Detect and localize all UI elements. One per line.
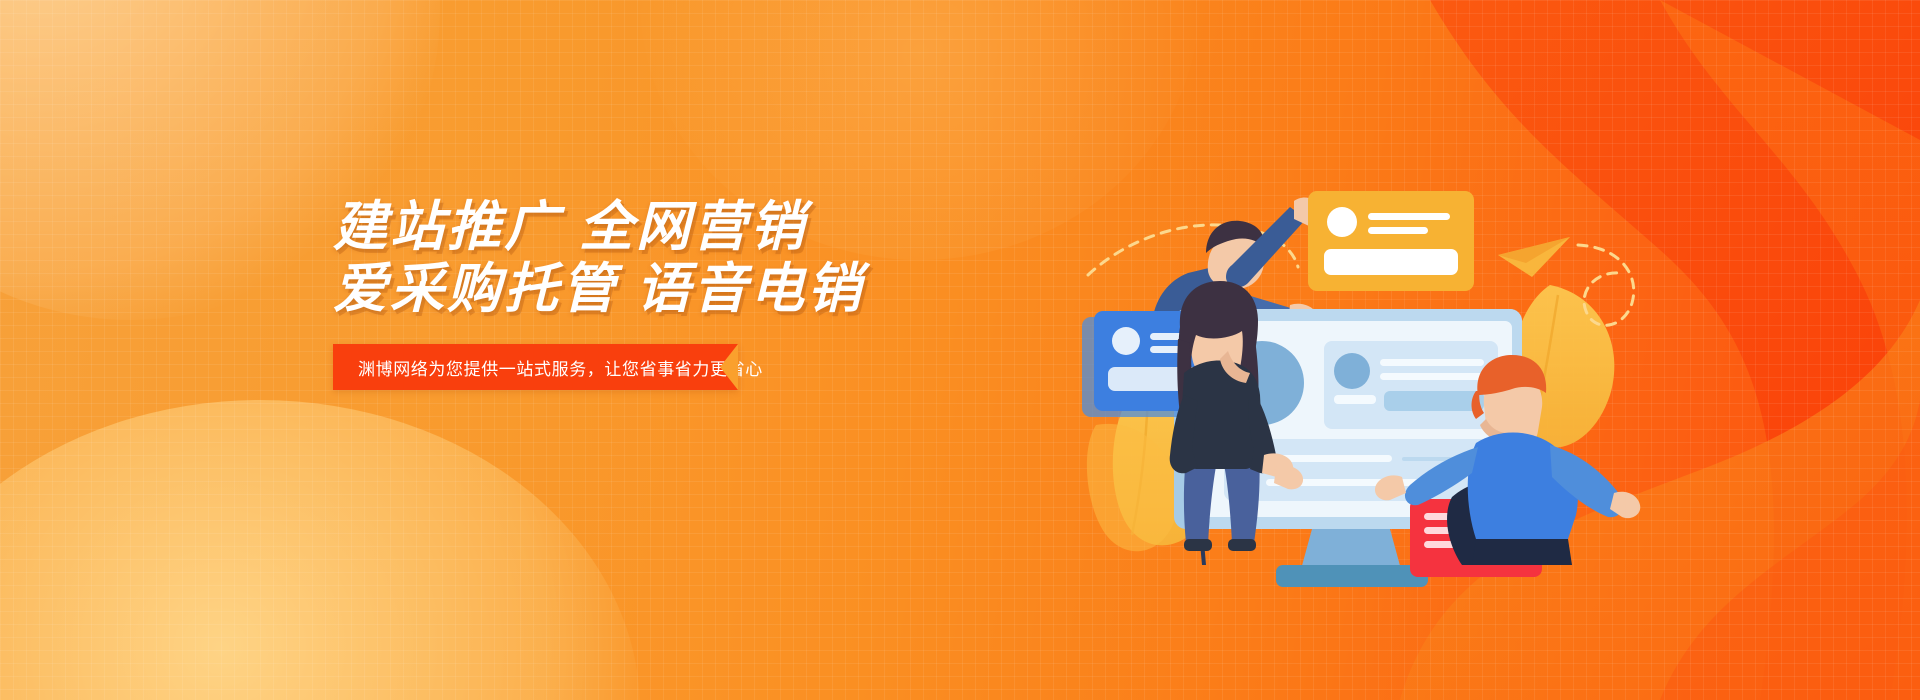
yellow-profile-card	[1308, 191, 1474, 291]
copy-block: 建站推广 全网营销 爱采购托管 语音电销 渊博网络为您提供一站式服务，让您省事省…	[333, 196, 1053, 390]
light-blob-bottom-left	[0, 400, 640, 700]
tagline-text: 渊博网络为您提供一站式服务，让您省事省力更省心	[358, 355, 763, 380]
tagline-ribbon: 渊博网络为您提供一站式服务，让您省事省力更省心	[333, 344, 738, 390]
promo-banner: 建站推广 全网营销 爱采购托管 语音电销 渊博网络为您提供一站式服务，让您省事省…	[0, 0, 1920, 700]
paper-plane-icon	[1498, 237, 1570, 277]
headline-line-2: 爱采购托管 语音电销	[333, 258, 1053, 320]
headline-line-1: 建站推广 全网营销	[333, 196, 1053, 258]
dashed-curve-right	[1578, 245, 1634, 325]
teamwork-dashboard-illustration	[1080, 95, 1640, 565]
